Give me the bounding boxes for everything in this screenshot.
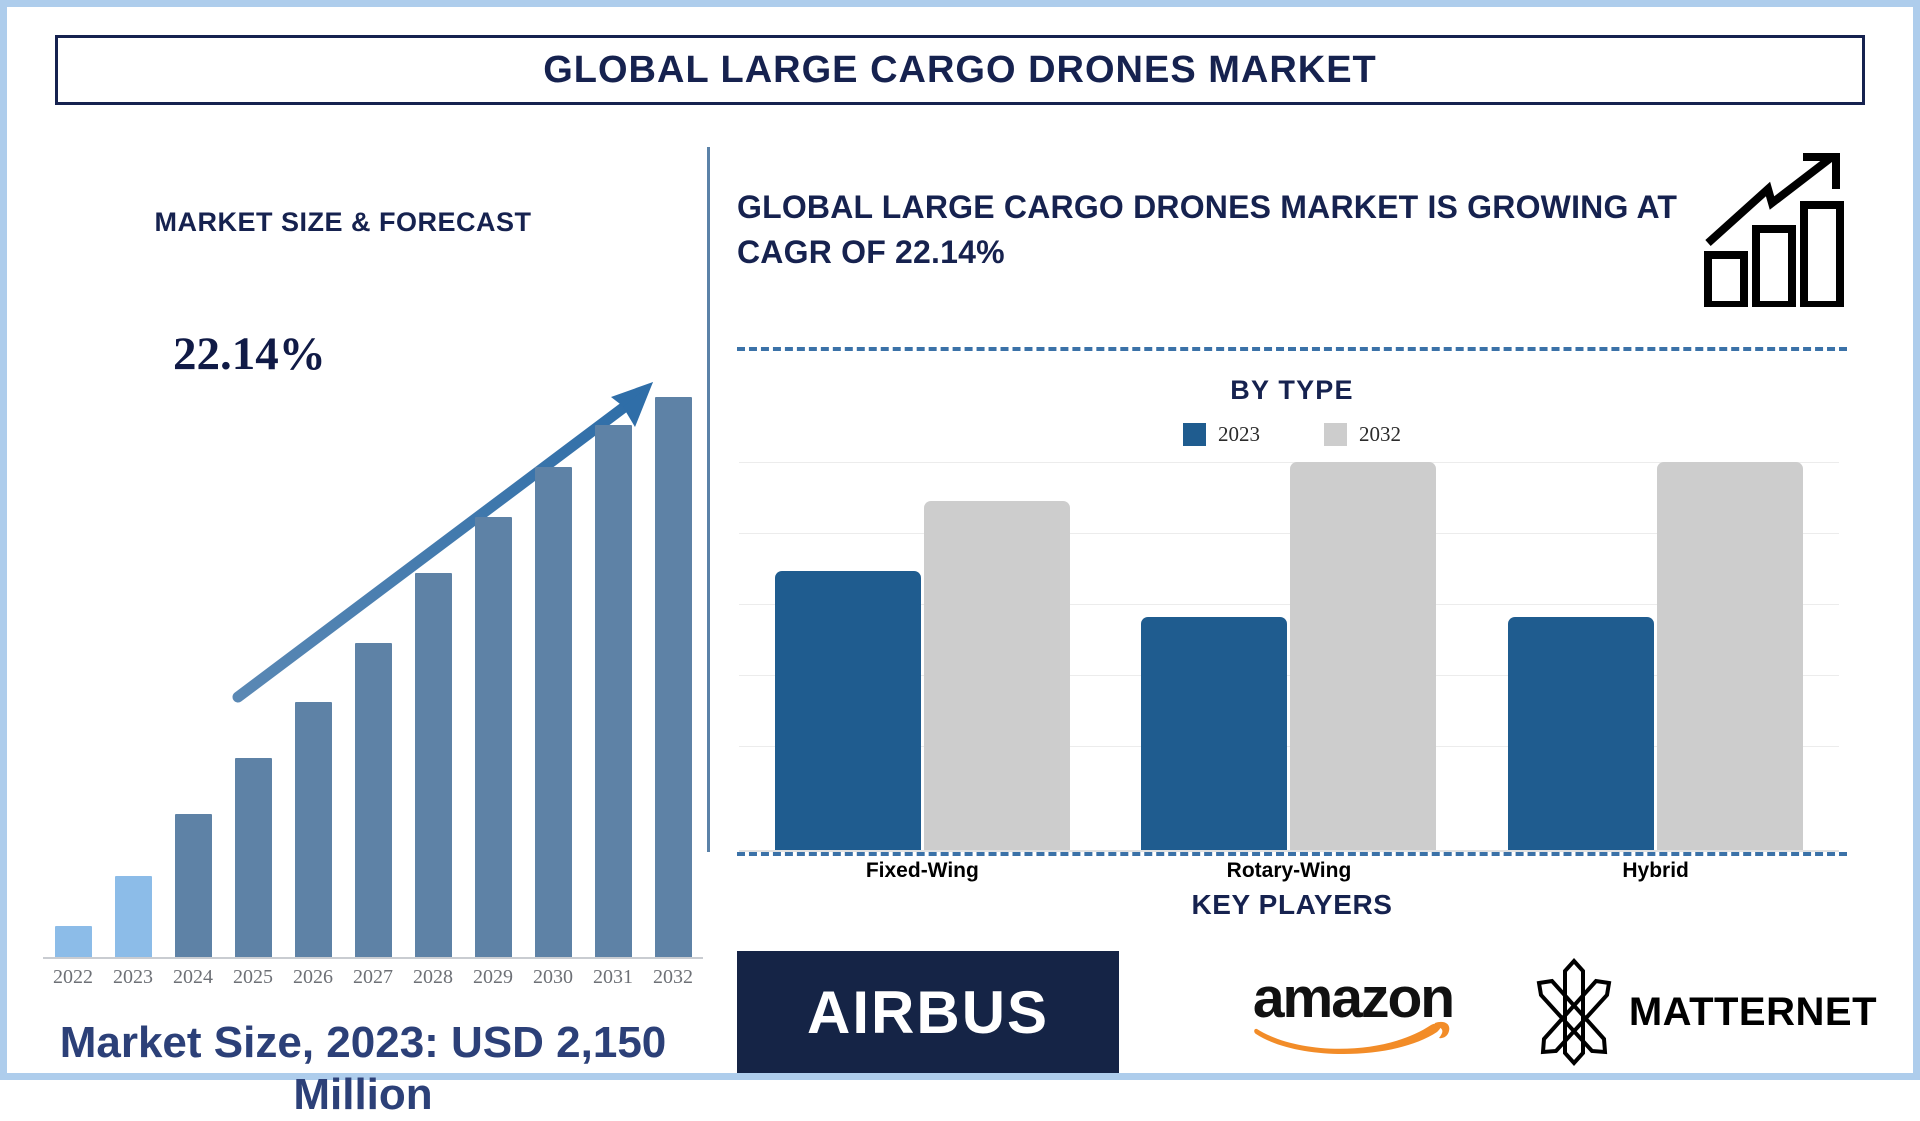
matternet-logo: MATTERNET xyxy=(1535,957,1877,1067)
x-axis-tick-labels: 2022 2023 2024 2025 2026 2027 2028 2029 … xyxy=(43,966,703,989)
airbus-logo: AIRBUS xyxy=(737,951,1119,1073)
group-fixed-wing xyxy=(775,462,1070,850)
legend-swatch-icon xyxy=(1324,423,1347,446)
bar-fixed-wing-2032 xyxy=(924,501,1070,850)
x-tick-label: 2030 xyxy=(523,966,583,989)
legend-item-2023: 2023 xyxy=(1183,422,1260,447)
category-label-rotary-wing: Rotary-Wing xyxy=(1139,859,1439,883)
bar-slot xyxy=(643,397,703,957)
matternet-snowflake-icon xyxy=(1535,957,1613,1067)
bar-2031 xyxy=(595,425,632,957)
bar-hybrid-2032 xyxy=(1657,462,1803,850)
amazon-logo-text: amazon xyxy=(1253,970,1453,1027)
infographic-page: GLOBAL LARGE CARGO DRONES MARKET MARKET … xyxy=(0,0,1920,1080)
bar-slot xyxy=(283,397,343,957)
bar-2024 xyxy=(175,814,212,957)
category-label-fixed-wing: Fixed-Wing xyxy=(772,859,1072,883)
x-tick-label: 2032 xyxy=(643,966,703,989)
bar-slot xyxy=(163,397,223,957)
legend-label: 2023 xyxy=(1218,422,1260,447)
left-bars-container xyxy=(43,397,703,957)
bar-2022 xyxy=(55,926,92,957)
cagr-headline: GLOBAL LARGE CARGO DRONES MARKET IS GROW… xyxy=(737,185,1697,276)
bar-rotary-wing-2032 xyxy=(1290,462,1436,850)
category-label-hybrid: Hybrid xyxy=(1506,859,1806,883)
divider-bottom xyxy=(737,852,1847,856)
market-size-bar-chart: 2022 2023 2024 2025 2026 2027 2028 2029 … xyxy=(43,387,703,987)
bar-2029 xyxy=(475,517,512,957)
cagr-label: 22.14% xyxy=(173,327,326,381)
bar-chart-growth-icon xyxy=(1702,147,1852,307)
bar-fixed-wing-2023 xyxy=(775,571,921,850)
legend-item-2032: 2032 xyxy=(1324,422,1401,447)
x-tick-label: 2029 xyxy=(463,966,523,989)
bar-rotary-wing-2023 xyxy=(1141,617,1287,850)
type-category-labels: Fixed-Wing Rotary-Wing Hybrid xyxy=(739,859,1839,883)
amazon-swoosh-icon xyxy=(1253,1021,1453,1055)
by-type-bar-chart xyxy=(739,462,1839,852)
matternet-logo-text: MATTERNET xyxy=(1629,990,1877,1035)
bar-slot xyxy=(103,397,163,957)
divider-top xyxy=(737,347,1847,351)
market-details-panel: GLOBAL LARGE CARGO DRONES MARKET IS GROW… xyxy=(717,137,1907,1067)
bar-2030 xyxy=(535,467,572,957)
left-panel-heading: MARKET SIZE & FORECAST xyxy=(23,207,663,238)
x-tick-label: 2024 xyxy=(163,966,223,989)
x-tick-label: 2025 xyxy=(223,966,283,989)
bar-slot xyxy=(523,397,583,957)
panel-divider xyxy=(707,147,710,852)
bar-2026 xyxy=(295,702,332,957)
group-hybrid xyxy=(1508,462,1803,850)
bar-2025 xyxy=(235,758,272,957)
bar-2032 xyxy=(655,397,692,957)
bar-slot xyxy=(343,397,403,957)
bar-2023 xyxy=(115,876,152,957)
bar-slot xyxy=(223,397,283,957)
key-players-title: KEY PLAYERS xyxy=(737,889,1847,921)
market-size-note: Market Size, 2023: USD 2,150 Million xyxy=(33,1017,693,1121)
title-box: GLOBAL LARGE CARGO DRONES MARKET xyxy=(55,35,1865,105)
x-tick-label: 2026 xyxy=(283,966,343,989)
bar-slot xyxy=(583,397,643,957)
x-tick-label: 2022 xyxy=(43,966,103,989)
by-type-title: BY TYPE xyxy=(737,375,1847,406)
group-rotary-wing xyxy=(1141,462,1436,850)
legend-label: 2032 xyxy=(1359,422,1401,447)
chart-legend: 2023 2032 xyxy=(737,422,1847,447)
bar-2027 xyxy=(355,643,392,957)
page-title: GLOBAL LARGE CARGO DRONES MARKET xyxy=(543,49,1377,92)
bar-slot xyxy=(43,397,103,957)
airbus-logo-text: AIRBUS xyxy=(807,978,1049,1047)
x-tick-label: 2027 xyxy=(343,966,403,989)
bar-hybrid-2023 xyxy=(1508,617,1654,850)
bar-2028 xyxy=(415,573,452,957)
market-size-forecast-panel: MARKET SIZE & FORECAST 22.14% xyxy=(23,137,709,1067)
amazon-logo: amazon xyxy=(1231,970,1475,1055)
x-axis-line xyxy=(43,957,703,959)
type-groups-container xyxy=(739,462,1839,850)
bar-slot xyxy=(403,397,463,957)
x-tick-label: 2028 xyxy=(403,966,463,989)
x-tick-label: 2031 xyxy=(583,966,643,989)
bar-slot xyxy=(463,397,523,957)
x-tick-label: 2023 xyxy=(103,966,163,989)
legend-swatch-icon xyxy=(1183,423,1206,446)
key-players-row: AIRBUS amazon MATTERNET xyxy=(737,942,1877,1082)
